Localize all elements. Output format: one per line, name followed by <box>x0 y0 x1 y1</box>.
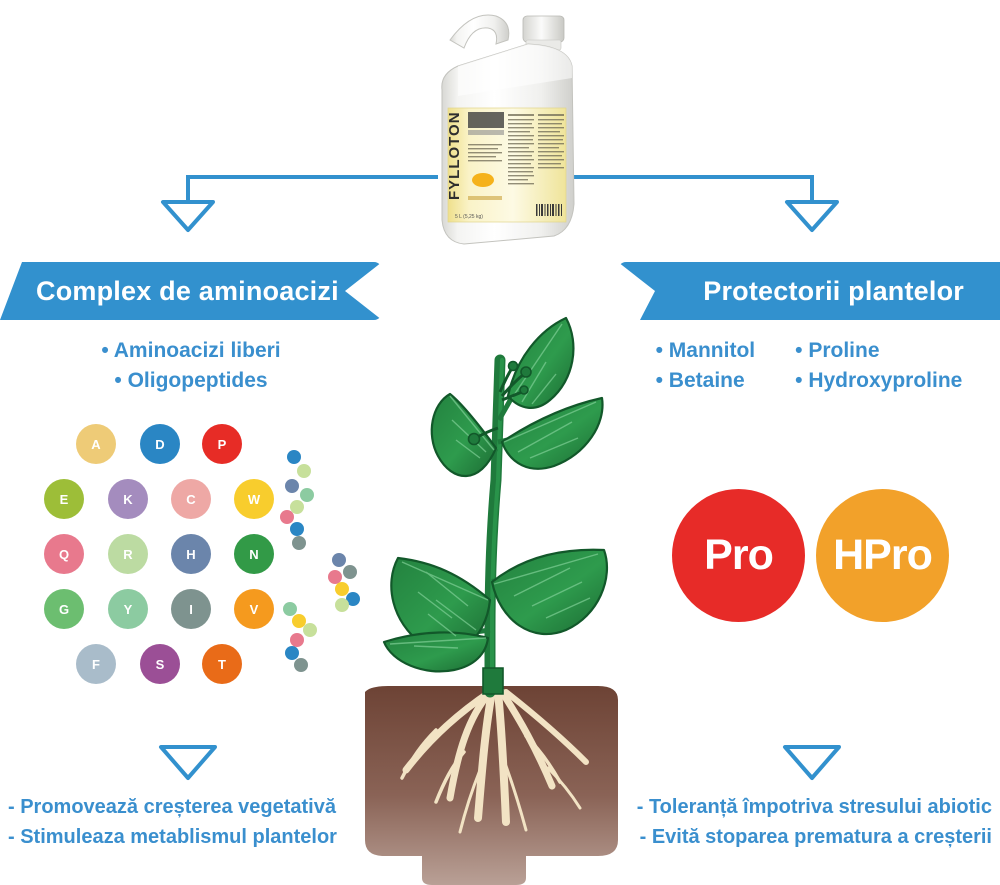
right-footer-notes: - Toleranță împotriva stresului abiotic … <box>637 793 992 852</box>
footer-note: - Toleranță împotriva stresului abiotic <box>637 793 992 823</box>
amino-acid-label: A <box>91 437 100 452</box>
amino-acid-label: T <box>218 657 226 672</box>
amino-acid-label: R <box>123 547 132 562</box>
amino-acid-circle-h: H <box>171 534 211 574</box>
bullet-item: • Hydroxyproline <box>795 366 962 396</box>
amino-acid-label: D <box>155 437 164 452</box>
amino-acid-label: I <box>189 602 193 617</box>
footer-note: - Promovează creșterea vegetativă <box>8 793 337 823</box>
bullet-item: • Oligopeptides <box>0 366 382 396</box>
oligopeptide-dot <box>285 479 299 493</box>
right-panel-bullets: • Mannitol • Betaine • Proline • Hydroxy… <box>618 336 1000 396</box>
amino-acid-circle-d: D <box>140 424 180 464</box>
left-panel-title: Complex de aminoacizi <box>36 276 339 307</box>
amino-acid-label: N <box>249 547 258 562</box>
hpro-badge: HPro <box>816 489 949 622</box>
amino-acid-label: Q <box>59 547 69 562</box>
footer-note: - Evită stoparea prematura a creșterii <box>637 823 992 853</box>
right-panel-title: Protectorii plantelor <box>703 276 964 307</box>
amino-acid-label: E <box>60 492 69 507</box>
oligopeptide-dot <box>297 464 311 478</box>
footer-arrow-left <box>157 742 219 782</box>
product-bottle: FYLLOTON <box>420 4 600 250</box>
amino-acid-label: C <box>186 492 195 507</box>
oligopeptide-dot <box>294 658 308 672</box>
amino-acid-label: F <box>92 657 100 672</box>
infographic-canvas: FYLLOTON <box>0 0 1000 885</box>
amino-acid-label: W <box>248 492 260 507</box>
footer-arrow-right <box>781 742 843 782</box>
bottle-volume-text: 5 L (5,25 kg) <box>455 214 483 220</box>
amino-acid-circle-p: P <box>202 424 242 464</box>
amino-acid-circle-a: A <box>76 424 116 464</box>
left-footer-notes: - Promovează creșterea vegetativă - Stim… <box>8 793 337 852</box>
left-panel-title-banner: Complex de aminoacizi <box>0 262 382 320</box>
amino-acid-circle-c: C <box>171 479 211 519</box>
bullet-item: • Proline <box>795 336 962 366</box>
amino-acid-circle-n: N <box>234 534 274 574</box>
amino-acid-circle-y: Y <box>108 589 148 629</box>
connector-arrow-right <box>560 155 850 235</box>
oligopeptide-dot <box>292 536 306 550</box>
hpro-badge-label: HPro <box>833 531 932 580</box>
oligopeptide-dot <box>280 510 294 524</box>
amino-acid-label: V <box>250 602 259 617</box>
amino-acid-circle-w: W <box>234 479 274 519</box>
pro-badge-label: Pro <box>704 531 773 580</box>
amino-acid-label: P <box>218 437 227 452</box>
left-panel-bullets: • Aminoacizi liberi • Oligopeptides <box>0 336 382 396</box>
amino-acid-circle-e: E <box>44 479 84 519</box>
amino-acid-circle-i: I <box>171 589 211 629</box>
amino-acid-label: Y <box>124 602 133 617</box>
amino-acid-label: H <box>186 547 195 562</box>
oligopeptide-dot <box>290 633 304 647</box>
amino-acid-circle-q: Q <box>44 534 84 574</box>
amino-acid-circle-r: R <box>108 534 148 574</box>
right-panel-title-banner: Protectorii plantelor <box>618 262 1000 320</box>
amino-acid-label: S <box>156 657 165 672</box>
bullet-item: • Mannitol <box>656 336 756 366</box>
plant-illustration <box>340 300 660 885</box>
oligopeptide-dot <box>303 623 317 637</box>
right-bullets-col-2: • Proline • Hydroxyproline <box>795 336 962 396</box>
bottle-brand-text: FYLLOTON <box>446 111 463 200</box>
amino-acid-circle-s: S <box>140 644 180 684</box>
bullet-item: • Aminoacizi liberi <box>0 336 382 366</box>
right-bullets-col-1: • Mannitol • Betaine <box>656 336 756 396</box>
bullet-item: • Betaine <box>656 366 756 396</box>
connector-arrow-left <box>150 155 440 235</box>
amino-acid-circle-k: K <box>108 479 148 519</box>
oligopeptide-dot <box>290 522 304 536</box>
amino-acid-label: G <box>59 602 69 617</box>
footer-note: - Stimuleaza metablismul plantelor <box>8 823 337 853</box>
amino-acid-circle-v: V <box>234 589 274 629</box>
oligopeptide-dot <box>287 450 301 464</box>
pro-badge: Pro <box>672 489 805 622</box>
oligopeptide-dot <box>300 488 314 502</box>
amino-acid-grid: ADPEKCWQRHNGYIVFST <box>40 424 270 694</box>
amino-acid-circle-g: G <box>44 589 84 629</box>
amino-acid-circle-f: F <box>76 644 116 684</box>
amino-acid-label: K <box>123 492 132 507</box>
amino-acid-circle-t: T <box>202 644 242 684</box>
